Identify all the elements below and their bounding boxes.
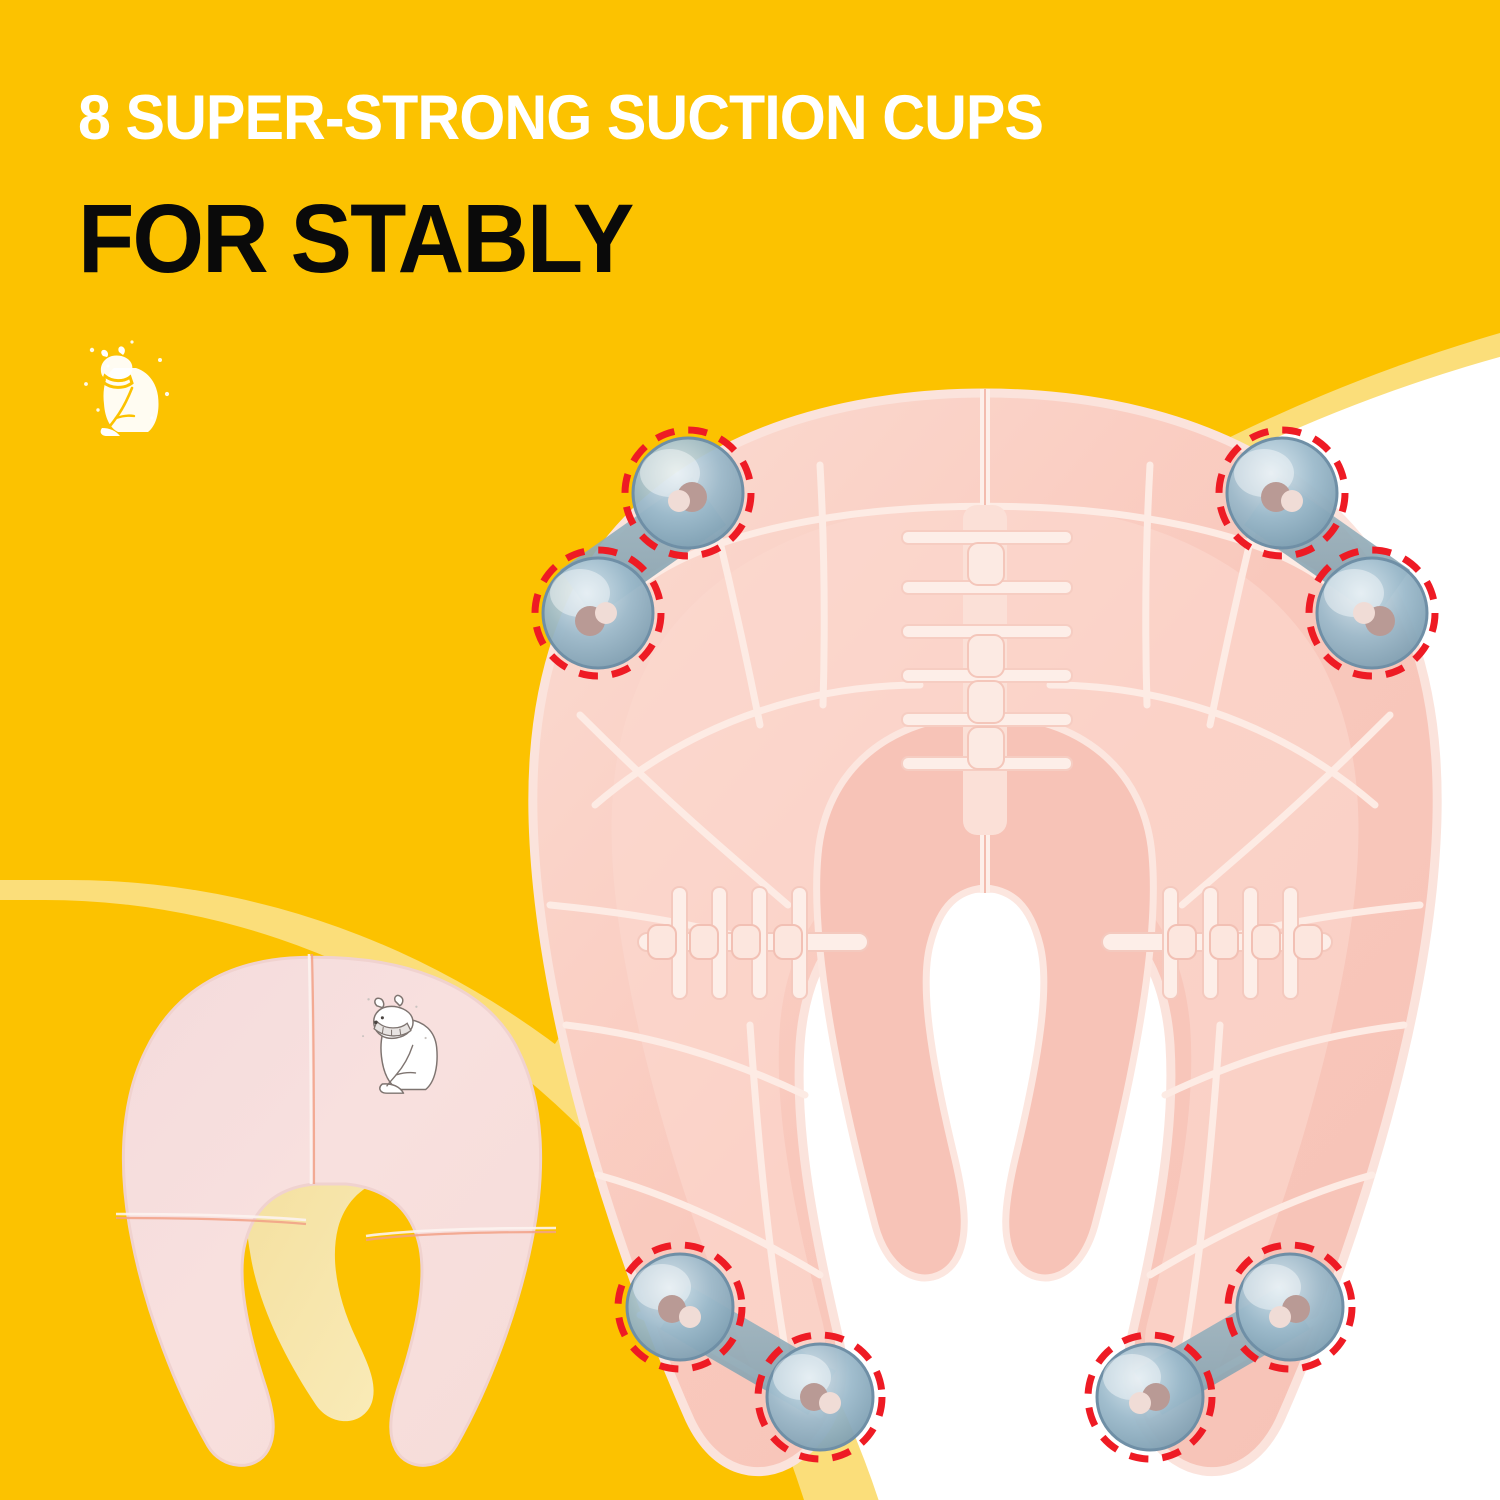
headline-secondary: FOR STABLY: [78, 183, 632, 295]
suction-cup: [1097, 1344, 1203, 1450]
product-folded-seat: [100, 940, 570, 1480]
suction-cup: [633, 438, 743, 548]
suction-cup: [1317, 558, 1427, 668]
suction-cup: [1227, 438, 1337, 548]
product-marketing-banner: 8 SUPER-STRONG SUCTION CUPS FOR STABLY: [0, 0, 1500, 1500]
suction-cup: [627, 1254, 733, 1360]
polar-bear-logo-icon: [72, 332, 182, 442]
product-main-unfolded-seat: [520, 385, 1450, 1485]
suction-cup: [1237, 1254, 1343, 1360]
suction-cup: [767, 1344, 873, 1450]
headline-primary: 8 SUPER-STRONG SUCTION CUPS: [78, 82, 1043, 154]
suction-cup: [543, 558, 653, 668]
